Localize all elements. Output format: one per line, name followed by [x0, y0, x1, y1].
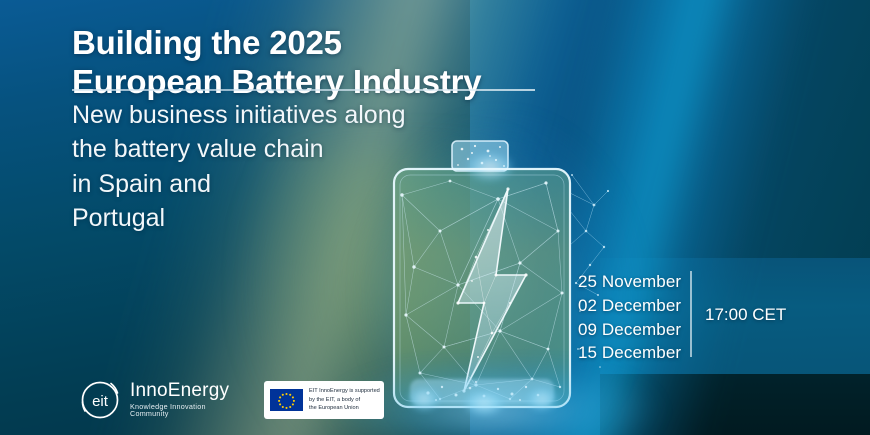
subtitle-line-1: New business initiatives along	[72, 98, 502, 132]
event-time: 17:00 CET	[705, 305, 786, 325]
eit-innoenergy-logo: eit InnoEnergy Knowledge Innovation Comm…	[78, 376, 243, 422]
svg-text:eit: eit	[92, 393, 109, 410]
dates-time-divider	[690, 271, 692, 357]
eit-logo-name: InnoEnergy	[130, 381, 243, 400]
eu-support-line-1: EIT InnoEnergy is supported	[309, 387, 380, 396]
eu-support-badge: EIT InnoEnergy is supported by the EIT, …	[264, 381, 384, 419]
eit-ring-icon: eit	[78, 377, 122, 421]
eu-support-line-2: by the EIT, a body of	[309, 396, 380, 405]
subtitle-line-4: Portugal	[72, 201, 502, 235]
eu-support-line-3: the European Union	[309, 404, 380, 413]
eu-support-text: EIT InnoEnergy is supported by the EIT, …	[309, 387, 380, 413]
subtitle-line-2: the battery value chain	[72, 132, 502, 166]
event-date-2: 02 December	[578, 294, 681, 318]
event-date-1: 25 November	[578, 270, 681, 294]
subtitle-line-3: in Spain and	[72, 167, 502, 201]
title-divider	[72, 89, 535, 91]
event-dates-list: 25 November 02 December 09 December 15 D…	[578, 270, 681, 365]
title-line-1: Building the 2025	[72, 24, 592, 63]
page-subtitle: New business initiatives along the batte…	[72, 98, 502, 235]
title-line-2: European Battery Industry	[72, 63, 592, 102]
event-banner: Building the 2025 European Battery Indus…	[0, 0, 870, 435]
event-date-4: 15 December	[578, 341, 681, 365]
eit-logo-text: InnoEnergy Knowledge Innovation Communit…	[130, 381, 243, 417]
event-date-3: 09 December	[578, 318, 681, 342]
european-union-flag-icon	[270, 389, 303, 411]
eit-logo-tagline: Knowledge Innovation Community	[130, 403, 243, 417]
